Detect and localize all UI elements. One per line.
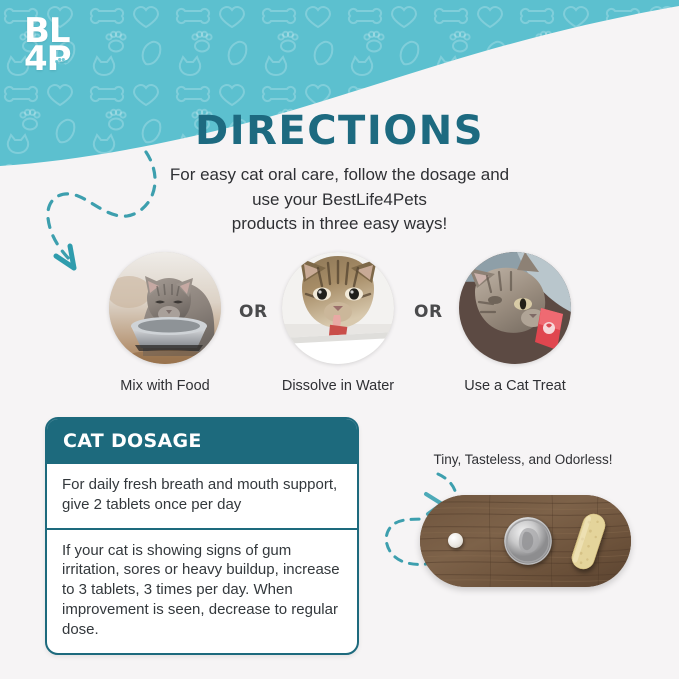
cat-eating-from-bowl-photo <box>109 252 221 364</box>
cat-dosage-card: CAT DOSAGE For daily fresh breath and mo… <box>45 417 359 655</box>
paw-print-icon <box>54 56 69 71</box>
way-label: Mix with Food <box>105 378 225 394</box>
small-tablet <box>448 533 463 548</box>
size-demo-caption: Tiny, Tasteless, and Odorless! <box>418 452 628 467</box>
logo-line-2: 4P <box>24 46 88 74</box>
way-label: Use a Cat Treat <box>455 378 575 394</box>
way-label: Dissolve in Water <box>278 378 398 394</box>
way-option-mix-with-food[interactable]: Mix with Food <box>105 252 225 394</box>
infographic-page: BL 4P DIRECTIONS For easy cat oral care,… <box>0 0 679 679</box>
dosage-row-increased: If your cat is showing signs of gum irri… <box>47 528 357 653</box>
separator-or-2: OR <box>414 302 443 322</box>
cat-with-treat-photo <box>459 252 571 364</box>
cat-licking-water-photo <box>282 252 394 364</box>
dime-coin <box>504 517 552 565</box>
page-title: DIRECTIONS <box>0 108 679 154</box>
cat-dosage-heading: CAT DOSAGE <box>47 419 357 464</box>
separator-or-1: OR <box>239 302 268 322</box>
three-ways-row: Mix with Food OR <box>0 252 679 392</box>
way-option-use-a-cat-treat[interactable]: Use a Cat Treat <box>455 252 575 394</box>
brand-logo: BL 4P <box>24 18 88 84</box>
dosage-row-daily: For daily fresh breath and mouth support… <box>47 464 357 528</box>
way-option-dissolve-in-water[interactable]: Dissolve in Water <box>278 252 398 394</box>
wooden-board-photo <box>420 495 631 587</box>
